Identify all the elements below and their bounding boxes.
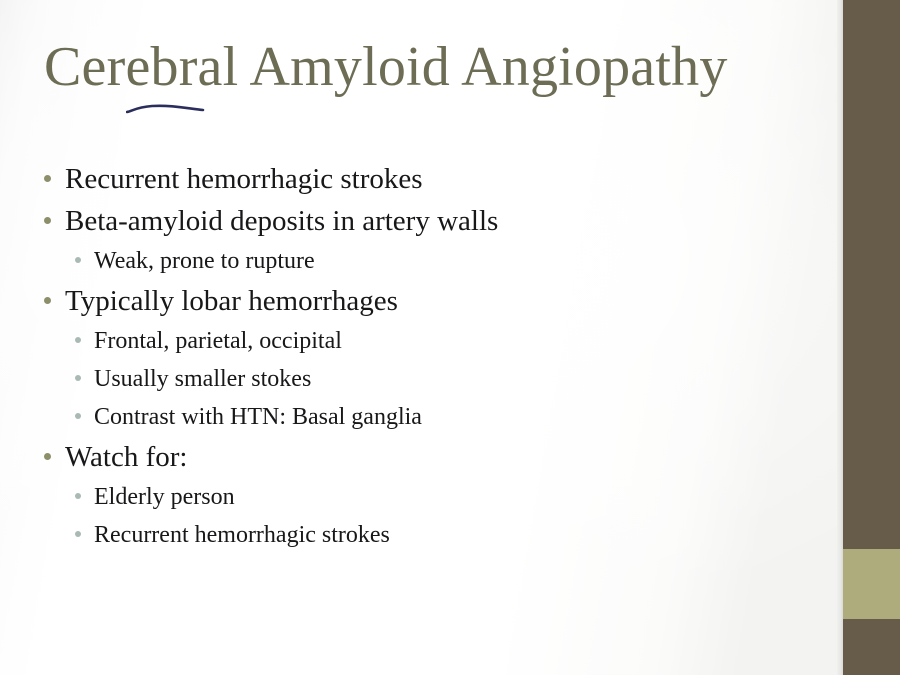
list-item: Weak, prone to rupture: [44, 242, 824, 280]
list-item-label: Usually smaller stokes: [94, 360, 824, 398]
list-item-label: Watch for:: [65, 436, 824, 478]
list-item: Recurrent hemorrhagic strokes: [44, 516, 824, 554]
bullet-dot-icon: [75, 413, 81, 419]
bullet-dot-icon: [75, 493, 81, 499]
bullet-dot-icon: [44, 297, 51, 304]
bullet-dot-icon: [75, 531, 81, 537]
bullet-dot-icon: [44, 175, 51, 182]
list-item-label: Beta-amyloid deposits in artery walls: [65, 200, 824, 242]
list-item: Contrast with HTN: Basal ganglia: [44, 398, 824, 436]
list-item-label: Recurrent hemorrhagic strokes: [65, 158, 824, 200]
bullet-dot-icon: [44, 453, 51, 460]
title-area: Cerebral Amyloid Angiopathy: [44, 36, 804, 99]
list-item-label: Typically lobar hemorrhages: [65, 280, 824, 322]
sidebar-band-bottom: [843, 619, 900, 675]
list-item: Frontal, parietal, occipital: [44, 322, 824, 360]
bullet-dot-icon: [75, 337, 81, 343]
list-item-label: Elderly person: [94, 478, 824, 516]
bullet-dot-icon: [75, 257, 81, 263]
bullet-dot-icon: [44, 217, 51, 224]
list-item: Recurrent hemorrhagic strokes: [44, 158, 824, 200]
slide-sidebar-decoration: [843, 0, 900, 675]
page-title: Cerebral Amyloid Angiopathy: [44, 36, 804, 99]
list-item: Typically lobar hemorrhages: [44, 280, 824, 322]
list-item-label: Contrast with HTN: Basal ganglia: [94, 398, 824, 436]
presentation-slide: Cerebral Amyloid Angiopathy Recurrent he…: [0, 0, 900, 675]
list-item-label: Weak, prone to rupture: [94, 242, 824, 280]
bullet-list: Recurrent hemorrhagic strokes Beta-amylo…: [44, 158, 824, 554]
list-item: Watch for:: [44, 436, 824, 478]
bullet-dot-icon: [75, 375, 81, 381]
list-item-label: Recurrent hemorrhagic strokes: [94, 516, 824, 554]
sidebar-band-top: [843, 0, 900, 549]
list-item: Usually smaller stokes: [44, 360, 824, 398]
sidebar-band-accent: [843, 549, 900, 619]
list-item: Elderly person: [44, 478, 824, 516]
list-item-label: Frontal, parietal, occipital: [94, 322, 824, 360]
list-item: Beta-amyloid deposits in artery walls: [44, 200, 824, 242]
